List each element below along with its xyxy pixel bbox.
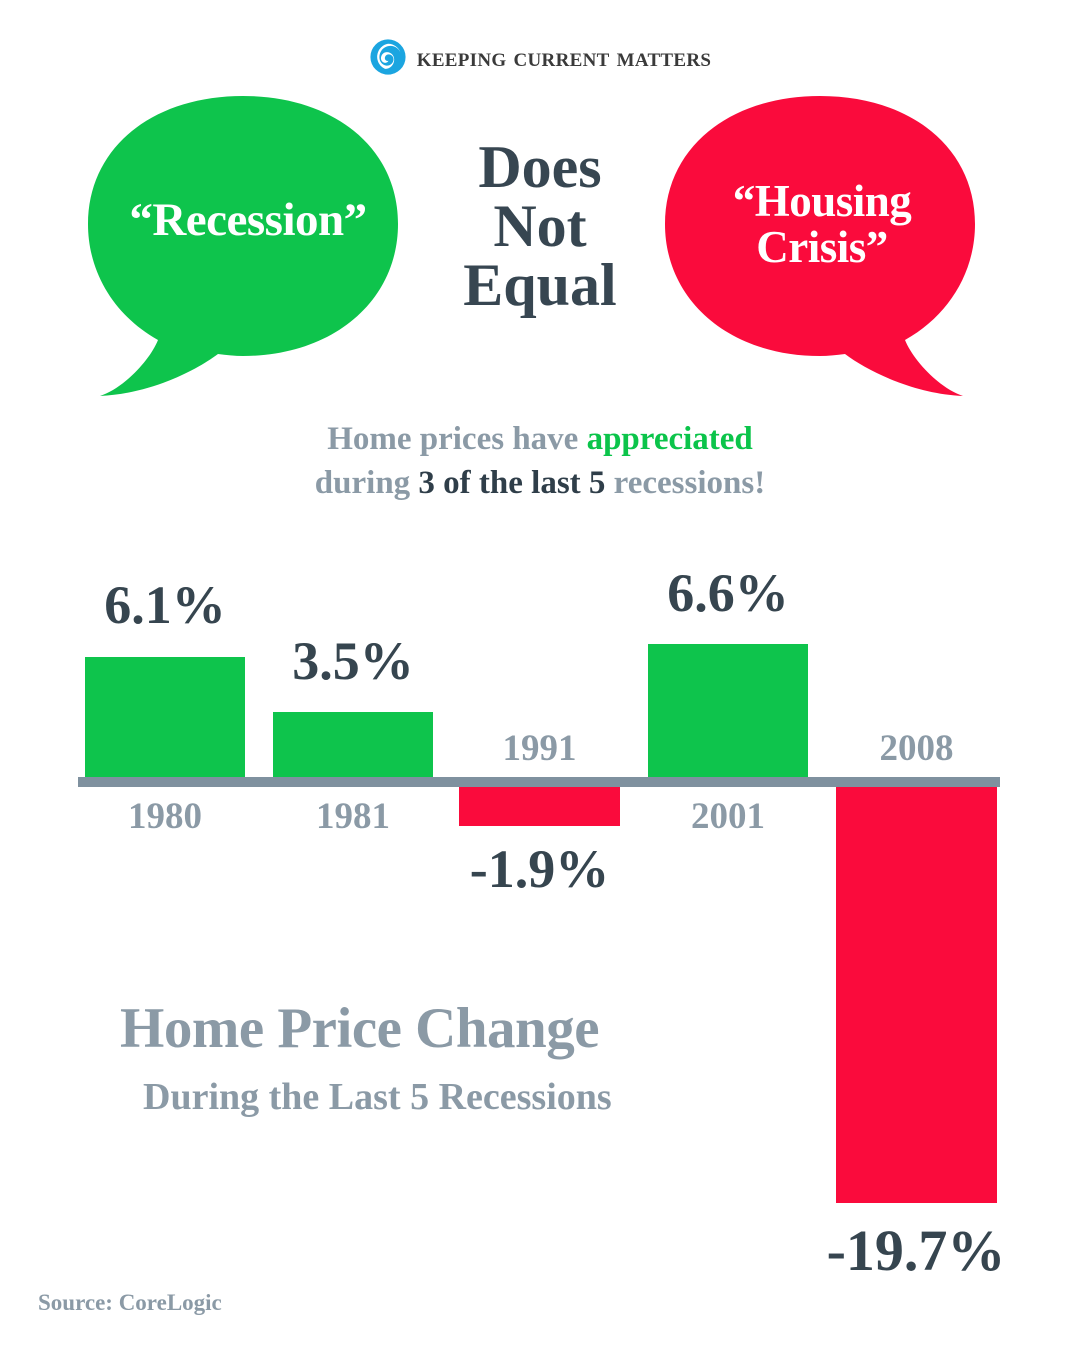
value-label-1991: -1.9% — [459, 842, 620, 896]
bar-2008 — [836, 785, 997, 1203]
value-label-1980: 6.1% — [85, 578, 245, 632]
zero-axis-line — [78, 777, 1000, 787]
category-label-2001: 2001 — [648, 798, 808, 835]
value-label-1981: 3.5% — [273, 634, 433, 688]
category-label-1981: 1981 — [273, 798, 433, 835]
home-price-change-chart: 6.1% 3.5% -1.9% 6.6% -19.7% 1980 1981 19… — [0, 0, 1080, 1350]
category-label-2008: 2008 — [836, 730, 997, 767]
chart-title: Home Price Change — [120, 1000, 599, 1057]
value-label-2008: -19.7% — [806, 1222, 1026, 1280]
bar-1980 — [85, 657, 245, 782]
category-label-1980: 1980 — [85, 798, 245, 835]
chart-subtitle: During the Last 5 Recessions — [143, 1078, 612, 1116]
bar-1991 — [459, 785, 620, 826]
value-label-2001: 6.6% — [648, 566, 808, 620]
infographic-page: Keeping Current Matters “Recession” “Hou… — [0, 0, 1080, 1350]
bar-1981 — [273, 712, 433, 782]
source-attribution: Source: CoreLogic — [38, 1290, 222, 1316]
bar-2001 — [648, 644, 808, 782]
category-label-1991: 1991 — [459, 730, 620, 767]
